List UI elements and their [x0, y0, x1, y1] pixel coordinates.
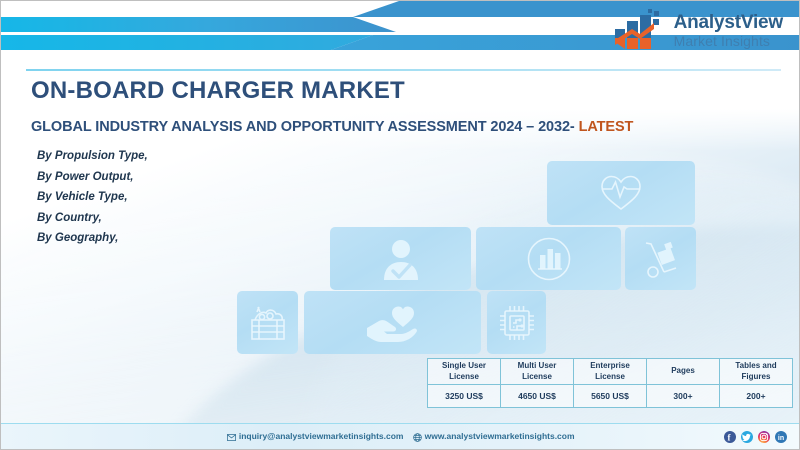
linkedin-icon[interactable]: in: [775, 431, 787, 443]
brand-tagline: Market Insights: [674, 34, 783, 48]
hand-truck-icon: [640, 239, 682, 279]
tile-hand-truck: [625, 227, 696, 290]
footer-website[interactable]: www.analystviewmarketinsights.com: [425, 431, 575, 441]
report-cover-slide: AnalystView Market Insights ON-BOARD CHA…: [0, 0, 800, 450]
table-header-cell: Multi User License: [501, 359, 574, 385]
footer-bar: inquiry@analystviewmarketinsights.com ww…: [1, 423, 800, 449]
social-links: f in: [724, 431, 787, 443]
instagram-icon[interactable]: [758, 431, 770, 443]
list-item: By Vehicle Type,: [37, 187, 148, 208]
hand-heart-icon: [365, 302, 421, 344]
header-ribbon-upper: [1, 17, 396, 32]
segment-list: By Propulsion Type, By Power Output, By …: [37, 146, 148, 249]
header-divider-line: [26, 69, 781, 71]
envelope-icon: [227, 431, 238, 441]
table-row: Single User License Multi User License E…: [428, 359, 793, 385]
list-item: By Country,: [37, 208, 148, 229]
tile-person-check: [330, 227, 471, 290]
bar-chart-logo-icon: [614, 9, 666, 51]
microchip-icon: [497, 303, 537, 343]
footer-email[interactable]: inquiry@analystviewmarketinsights.com: [239, 431, 404, 441]
table-header-cell: Single User License: [428, 359, 501, 385]
subtitle-latest-badge: LATEST: [579, 119, 634, 135]
facebook-icon[interactable]: f: [724, 431, 736, 443]
produce-crate-icon: [248, 304, 288, 342]
pricing-table: Single User License Multi User License E…: [427, 358, 793, 408]
page-title: ON-BOARD CHARGER MARKET: [31, 77, 405, 105]
list-item: By Geography,: [37, 228, 148, 249]
bar-chart-circle-icon: [526, 236, 572, 282]
table-header-cell: Enterprise License: [574, 359, 647, 385]
list-item: By Propulsion Type,: [37, 146, 148, 167]
table-cell: 4650 US$: [501, 385, 574, 408]
tile-produce-crate: [237, 291, 298, 354]
footer-contact: inquiry@analystviewmarketinsights.com ww…: [1, 431, 800, 441]
page-subtitle: GLOBAL INDUSTRY ANALYSIS AND OPPORTUNITY…: [31, 119, 633, 135]
person-check-icon: [380, 238, 422, 280]
svg-text:f: f: [728, 432, 732, 442]
tile-hand-heart: [304, 291, 481, 354]
table-cell: 5650 US$: [574, 385, 647, 408]
table-row: 3250 US$ 4650 US$ 5650 US$ 300+ 200+: [428, 385, 793, 408]
table-header-cell: Tables and Figures: [720, 359, 793, 385]
twitter-icon[interactable]: [741, 431, 753, 443]
brand-name: AnalystView: [674, 13, 783, 32]
brand-logo[interactable]: AnalystView Market Insights: [614, 9, 783, 51]
globe-icon: [413, 431, 424, 441]
subtitle-main: GLOBAL INDUSTRY ANALYSIS AND OPPORTUNITY…: [31, 119, 575, 135]
list-item: By Power Output,: [37, 167, 148, 188]
table-cell: 3250 US$: [428, 385, 501, 408]
tile-bar-chart: [476, 227, 621, 290]
table-cell: 200+: [720, 385, 793, 408]
table-header-cell: Pages: [647, 359, 720, 385]
tile-heartbeat: [547, 161, 695, 225]
brand-logo-text: AnalystView Market Insights: [674, 13, 783, 48]
heartbeat-icon: [599, 173, 643, 213]
tile-microchip: [487, 291, 546, 354]
svg-text:in: in: [778, 435, 784, 442]
table-cell: 300+: [647, 385, 720, 408]
